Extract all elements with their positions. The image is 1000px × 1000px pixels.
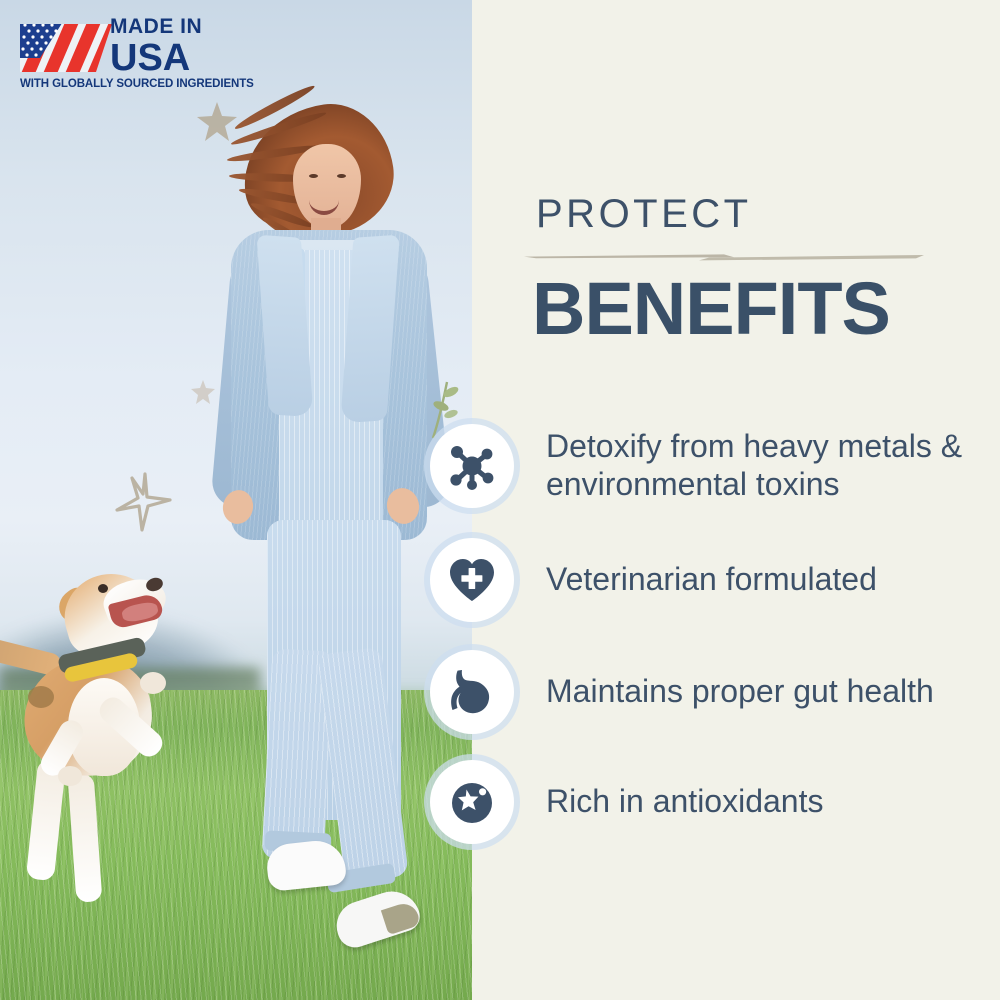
lifestyle-photo: MADE IN USA WITH GLOBALLY SOURCED INGRED…	[0, 0, 472, 1000]
badge-line-usa: USA	[110, 39, 202, 77]
list-item: Maintains proper gut health	[424, 644, 1000, 740]
dog-figure	[0, 560, 210, 920]
heart-plus-icon	[447, 556, 497, 604]
molecule-detox-icon	[446, 440, 498, 492]
panel-eyebrow: PROTECT	[536, 192, 752, 237]
usa-flag-icon	[18, 20, 114, 76]
benefits-panel: PROTECT BENEFITS	[472, 0, 1000, 1000]
benefit-label: Detoxify from heavy metals & environment…	[546, 428, 966, 504]
icon-ring	[424, 418, 520, 514]
benefits-list: Detoxify from heavy metals & environment…	[424, 418, 1000, 864]
berry-star-icon	[447, 777, 497, 827]
decorative-divider	[524, 248, 924, 266]
page-title: BENEFITS	[532, 266, 890, 351]
dog-eye	[98, 584, 108, 593]
made-in-usa-badge: MADE IN USA WITH GLOBALLY SOURCED INGRED…	[18, 16, 228, 90]
benefit-label: Veterinarian formulated	[546, 561, 877, 599]
badge-line-made-in: MADE IN	[110, 16, 202, 37]
usa-badge-text: MADE IN USA	[110, 16, 202, 77]
icon-ring	[424, 644, 520, 740]
badge-line-sourcing: WITH GLOBALLY SOURCED INGREDIENTS	[20, 78, 228, 90]
list-item: Rich in antioxidants	[424, 754, 1000, 850]
dog-spot	[28, 686, 54, 708]
benefit-label: Maintains proper gut health	[546, 673, 934, 711]
star-outline-icon	[112, 470, 174, 534]
list-item: Veterinarian formulated	[424, 532, 1000, 628]
icon-ring	[424, 532, 520, 628]
icon-ring	[424, 754, 520, 850]
benefit-label: Rich in antioxidants	[546, 783, 823, 821]
stomach-icon	[448, 667, 496, 717]
marketing-infographic: MADE IN USA WITH GLOBALLY SOURCED INGRED…	[0, 0, 1000, 1000]
list-item: Detoxify from heavy metals & environment…	[424, 418, 1000, 514]
